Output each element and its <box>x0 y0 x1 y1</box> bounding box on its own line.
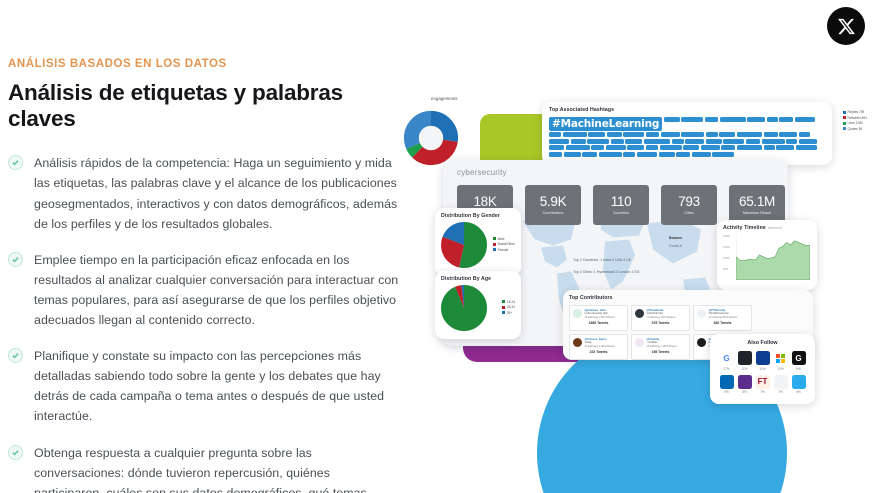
check-circle-icon <box>8 155 23 170</box>
avatar <box>573 309 582 318</box>
hashtag-chip[interactable] <box>796 145 817 150</box>
contributor-meta: 11 Following 880 Followers <box>709 316 738 319</box>
hashtag-chip[interactable] <box>591 145 604 150</box>
metric-label: Contributors <box>543 211 564 215</box>
content-column: ANÁLISIS BASADOS EN LOS DATOS Análisis d… <box>8 58 400 493</box>
hashtag-chip[interactable] <box>767 117 778 122</box>
gender-pie-graphic <box>441 222 487 268</box>
check-circle-icon <box>8 445 23 460</box>
engagement-legend-item: Retweets 891 <box>843 116 868 120</box>
hashtag-chip[interactable] <box>681 117 703 122</box>
brand-logo-icon: G <box>792 351 806 365</box>
age-legend-item: 25-34 <box>502 305 515 309</box>
hashtag-chip[interactable] <box>676 152 690 157</box>
hashtag-chip[interactable] <box>563 132 587 137</box>
gender-legend-item: Female <box>493 248 515 252</box>
engagement-donut-graphic <box>403 110 459 166</box>
hashtag-chip[interactable] <box>566 145 590 150</box>
hashtag-chip[interactable] <box>692 152 711 157</box>
hashtag-chip[interactable] <box>799 139 817 144</box>
activity-plot-area: 200015001000500 <box>723 234 811 286</box>
metric-value: 110 <box>611 195 632 209</box>
metric-value: 18K <box>473 195 496 209</box>
hashtag-chip[interactable] <box>683 145 699 150</box>
hashtag-chip[interactable] <box>779 132 797 137</box>
hashtag-chip[interactable] <box>795 117 815 122</box>
hashtag-chip[interactable] <box>706 132 718 137</box>
feature-bullet: Análisis rápidos de la competencia: Haga… <box>8 153 400 233</box>
activity-y-tick: 1500 <box>723 245 730 249</box>
engagement-legend-item: Replies 709 <box>843 110 868 114</box>
map-note-cities: Top 2 Cities: 1 Hyderabad 2 London 3 SG <box>573 270 640 275</box>
hashtag-chip[interactable] <box>549 152 562 157</box>
hashtag-chip[interactable] <box>623 132 644 137</box>
hashtag-chip[interactable] <box>646 132 659 137</box>
hashtag-chip[interactable] <box>623 152 635 157</box>
metric-tile[interactable]: 110Countries <box>593 185 649 225</box>
hashtag-chip[interactable] <box>746 139 760 144</box>
avatar <box>635 309 644 318</box>
hashtag-chip[interactable] <box>625 139 642 144</box>
activity-subtitle: tweets/hr <box>768 226 782 230</box>
brand-percent: 7% <box>756 390 770 394</box>
hashtag-chip[interactable] <box>549 145 564 150</box>
activity-title-text: Activity Timeline <box>723 225 766 231</box>
gender-legend-item: Brand/Other <box>493 242 515 246</box>
contributor-meta: 7 Following 1.3M Followers <box>647 316 676 319</box>
activity-card-title: Activity Timelinetweets/hr <box>723 225 811 231</box>
gender-legend: MaleBrand/OtherFemale <box>493 237 515 254</box>
hashtag-chip[interactable] <box>764 132 778 137</box>
also-follow-title: Also Follow <box>717 340 808 346</box>
map-callout-sub: Count 4 <box>669 244 682 249</box>
hashtag-chip[interactable] <box>588 132 605 137</box>
metric-value: 65.1M <box>739 195 775 209</box>
brand-logo-icon <box>738 375 752 389</box>
brand-percent: 6% <box>792 390 806 394</box>
hashtag-chip[interactable] <box>764 145 775 150</box>
hashtag-chip[interactable] <box>587 139 609 144</box>
avatar <box>697 309 706 318</box>
also-follow-item[interactable]: 11% <box>738 351 752 371</box>
hashtag-chip[interactable] <box>672 139 684 144</box>
brand-logo-icon <box>720 375 734 389</box>
feature-bullet-text: Obtenga respuesta a cualquier pregunta s… <box>34 443 400 493</box>
dashboard-illustration: Top Associated Hashtags #MachineLearning… <box>425 96 870 436</box>
contributor-card[interactable]: @threatintelCyberlink Net7 Following 1.3… <box>631 305 690 331</box>
brand-percent: 17% <box>720 367 734 371</box>
hashtag-chip[interactable] <box>664 117 680 122</box>
top-hashtags-card[interactable]: Top Associated Hashtags #MachineLearning <box>542 102 832 165</box>
brand-percent: 11% <box>738 367 752 371</box>
eyebrow-label: ANÁLISIS BASADOS EN LOS DATOS <box>8 58 400 71</box>
feature-bullet: Planifique y constate su impacto con las… <box>8 346 400 426</box>
gender-card-title: Distribution By Gender <box>441 213 515 219</box>
metric-label: Countries <box>613 211 629 215</box>
feature-bullet-text: Planifique y constate su impacto con las… <box>34 346 400 426</box>
age-pie-graphic <box>441 285 487 331</box>
hashtag-chip[interactable] <box>719 132 735 137</box>
hashtag-chip[interactable] <box>571 139 586 144</box>
contributor-card[interactable]: @ITSecurityThinkfirstsecurity11 Followin… <box>693 305 752 331</box>
age-legend-item: 18-24 <box>502 300 515 304</box>
metric-tile[interactable]: 5.9KContributors <box>525 185 581 225</box>
also-follow-item[interactable]: 6% <box>792 375 806 395</box>
avatar <box>697 338 706 347</box>
hashtag-chip[interactable] <box>779 117 793 122</box>
avatar <box>573 338 582 347</box>
contributor-tweet-count: 578 Tweets <box>635 321 686 325</box>
feature-bullet-text: Emplee tiempo en la participación eficaz… <box>34 250 400 330</box>
hashtag-chip[interactable] <box>786 139 797 144</box>
hashtag-chip[interactable] <box>564 152 581 157</box>
brand-percent: 9% <box>792 367 806 371</box>
hashtag-chip[interactable] <box>723 139 744 144</box>
hashtag-chip[interactable] <box>681 132 704 137</box>
contributor-meta: 25 Following 1.1M Followers <box>647 345 677 348</box>
brand-logo-icon <box>774 375 788 389</box>
age-legend-item: 35+ <box>502 311 515 315</box>
contributor-card[interactable]: @hackify• notable25 Following 1.1M Follo… <box>631 334 690 360</box>
also-follow-item[interactable]: 10% <box>774 351 788 371</box>
hashtag-chip[interactable] <box>607 132 622 137</box>
metric-tile[interactable]: 65.1MMaximum Reach <box>729 185 785 225</box>
gender-distribution-card[interactable]: Distribution By Gender MaleBrand/OtherFe… <box>435 208 521 276</box>
feature-bullet: Obtenga respuesta a cualquier pregunta s… <box>8 443 400 493</box>
engagement-legend-item: Likes 1092 <box>843 121 868 125</box>
hashtag-chip[interactable] <box>599 152 622 157</box>
engagement-title: engagements <box>431 96 458 101</box>
age-legend: 18-2425-3435+ <box>502 300 515 317</box>
hashtag-chip[interactable] <box>799 132 810 137</box>
hashtag-chip[interactable] <box>646 145 658 150</box>
age-card-title: Distribution By Age <box>441 276 515 282</box>
avatar <box>635 338 644 347</box>
hashtag-chip[interactable] <box>685 139 704 144</box>
hashtag-chip[interactable] <box>611 139 624 144</box>
activity-y-tick: 1000 <box>723 256 730 260</box>
hashtag-chip[interactable] <box>627 145 644 150</box>
hashtag-chip[interactable] <box>747 117 765 122</box>
feature-bullet: Emplee tiempo en la participación eficaz… <box>8 250 400 330</box>
hashtag-chip[interactable] <box>776 145 794 150</box>
hashtag-chip[interactable] <box>606 145 626 150</box>
brand-logo-icon: FT <box>756 375 770 389</box>
top-hashtags-title: Top Associated Hashtags <box>549 107 825 113</box>
metric-label: Maximum Reach <box>743 211 771 215</box>
hashtag-chip[interactable] <box>549 139 569 144</box>
feature-bullet-list: Análisis rápidos de la competencia: Haga… <box>8 153 400 493</box>
hashtag-chip[interactable] <box>737 132 762 137</box>
hashtag-chip[interactable] <box>706 139 722 144</box>
activity-area-graphic <box>736 234 810 280</box>
map-callout-title: Bounce <box>669 236 682 241</box>
x-logo-icon <box>838 18 855 35</box>
hashtag-chip[interactable] <box>701 145 720 150</box>
brand-percent: 11% <box>756 367 770 371</box>
contributor-tweet-count: 540 Tweets <box>697 321 748 325</box>
activity-y-tick: 500 <box>723 267 728 271</box>
contributors-card-title: Top Contributors <box>569 295 807 301</box>
also-follow-item[interactable]: 7% <box>774 375 788 395</box>
brand-logo-icon <box>774 351 788 365</box>
hashtag-chip[interactable] <box>720 117 746 122</box>
hashtag-chip[interactable] <box>660 145 682 150</box>
brand-logo-icon <box>756 351 770 365</box>
hashtag-chip[interactable] <box>721 145 735 150</box>
brand-logo-icon: G <box>720 351 734 365</box>
hashtag-chip[interactable] <box>659 152 675 157</box>
also-follow-item[interactable]: G9% <box>792 351 806 371</box>
brand-logo-icon <box>792 375 806 389</box>
contributor-meta: 41 Following 1.1M Followers <box>585 345 615 348</box>
hashtag-chip[interactable] <box>582 152 597 157</box>
metric-value: 793 <box>678 195 700 209</box>
map-note-countries: Top 2 Countries: 1 India 2 USA 3 UK <box>573 258 631 263</box>
engagement-legend: Replies 709Retweets 891Likes 1092Quotes … <box>843 110 868 132</box>
metric-value: 5.9K <box>540 195 567 209</box>
also-follow-grid: G17%11%11%10%G9%9%8%FT7%7%6% <box>717 351 808 394</box>
brand-percent: 10% <box>774 367 788 371</box>
hashtag-chip[interactable] <box>644 139 670 144</box>
hashtag-chip[interactable] <box>705 117 718 122</box>
contributor-tweet-count: 198 Tweets <box>635 350 686 354</box>
contributor-tweet-count: 1685 Tweets <box>573 321 624 325</box>
search-term-label: cybersecurity <box>457 168 507 177</box>
hashtag-chip[interactable] <box>661 132 680 137</box>
also-follow-item[interactable]: G17% <box>720 351 734 371</box>
hashtag-chip[interactable] <box>762 139 785 144</box>
metric-label: Cities <box>684 211 694 215</box>
brand-percent: 8% <box>738 390 752 394</box>
hashtag-cloud[interactable]: #MachineLearning <box>549 117 825 157</box>
feature-bullet-text: Análisis rápidos de la competencia: Haga… <box>34 153 400 233</box>
also-follow-item[interactable]: FT7% <box>756 375 770 395</box>
activity-y-tick: 2000 <box>723 234 730 238</box>
check-circle-icon <box>8 252 23 267</box>
also-follow-item[interactable]: 8% <box>738 375 752 395</box>
metric-tile[interactable]: 793Cities <box>661 185 717 225</box>
also-follow-card[interactable]: Also Follow G17%11%11%10%G9%9%8%FT7%7%6% <box>710 334 815 404</box>
age-distribution-card[interactable]: Distribution By Age 18-2425-3435+ <box>435 271 521 339</box>
hashtag-chip[interactable] <box>549 132 561 137</box>
brand-percent: 9% <box>720 390 734 394</box>
engagement-legend-item: Quotes 55 <box>843 127 868 131</box>
contributor-card[interactable]: @phemex_betaCyber Security Hub19 Followi… <box>569 305 628 331</box>
hashtag-chip[interactable] <box>637 152 657 157</box>
contributor-tweet-count: 223 Tweets <box>573 350 624 354</box>
hashtag-chip[interactable] <box>737 145 762 150</box>
page-title: Análisis de etiquetas y palabras claves <box>8 80 400 132</box>
contributor-card[interactable]: @infosec_bytesToday41 Following 1.1M Fol… <box>569 334 628 360</box>
x-logo-badge[interactable] <box>827 7 865 45</box>
brand-logo-icon <box>738 351 752 365</box>
hashtag-chip[interactable] <box>712 152 734 157</box>
brand-percent: 7% <box>774 390 788 394</box>
featured-hashtag[interactable]: #MachineLearning <box>549 117 662 131</box>
contributor-meta: 19 Following 1.9M Followers <box>585 316 615 319</box>
check-circle-icon <box>8 348 23 363</box>
slide-root: ANÁLISIS BASADOS EN LOS DATOS Análisis d… <box>0 0 877 493</box>
also-follow-item[interactable]: 9% <box>720 375 734 395</box>
gender-legend-item: Male <box>493 237 515 241</box>
also-follow-item[interactable]: 11% <box>756 351 770 371</box>
activity-timeline-card[interactable]: Activity Timelinetweets/hr 2000150010005… <box>717 220 817 290</box>
